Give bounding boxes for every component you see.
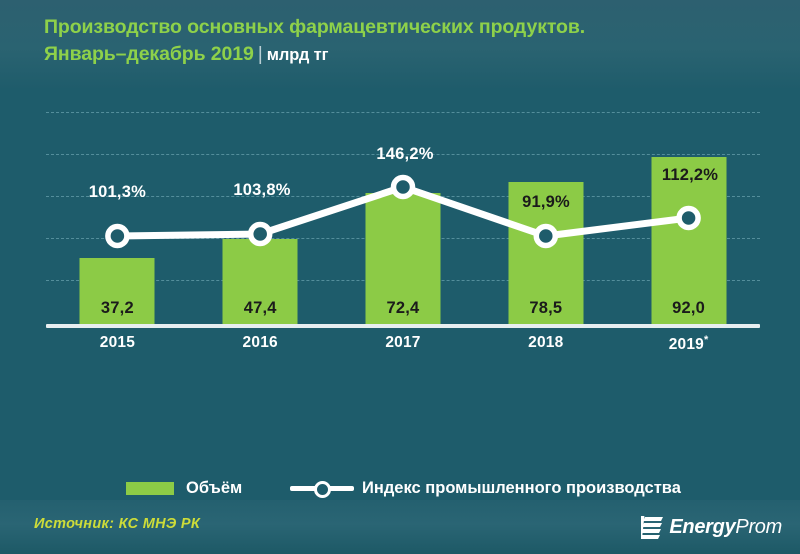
logo-text-prom: Prom	[735, 516, 782, 538]
x-axis-line	[46, 324, 760, 328]
title-separator: |	[254, 43, 267, 65]
title-main-text: Производство основных фармацевтических п…	[44, 16, 585, 38]
logo-text-energy: Energy	[669, 516, 735, 538]
source-text: Источник: КС МНЭ РК	[34, 516, 200, 532]
bar-2015[interactable]: 37,2	[80, 258, 155, 326]
bar-value-2018: 78,5	[508, 299, 583, 318]
bar-2017[interactable]: 72,4	[365, 193, 440, 326]
legend-swatch-icon	[126, 482, 174, 495]
bar-series-group: 37,2 47,4 72,4 78,5 92,0	[46, 88, 760, 326]
header-banner: Производство основных фармацевтических п…	[0, 0, 800, 88]
index-label-2019: 112,2%	[662, 166, 718, 185]
legend-label-index: Индекс промышленного производства	[362, 479, 681, 498]
legend-line-marker-icon	[290, 479, 354, 497]
plot-area: 37,2 47,4 72,4 78,5 92,0	[0, 88, 800, 500]
energyprom-logo-icon	[641, 515, 663, 539]
x-label-2018: 2018	[474, 334, 617, 352]
index-label-2017: 146,2%	[376, 145, 433, 164]
x-label-2017: 2017	[332, 334, 475, 352]
x-axis-labels: 2015 2016 2017 2018 2019*	[46, 334, 760, 360]
title-line-1: Производство основных фармацевтических п…	[44, 14, 780, 41]
energyprom-logo-text: EnergyProm	[669, 516, 782, 539]
legend-label-volume: Объём	[186, 479, 242, 498]
energyprom-logo[interactable]: EnergyProm	[641, 512, 782, 542]
index-label-2015: 101,3%	[89, 183, 146, 202]
bar-2016[interactable]: 47,4	[223, 239, 298, 326]
chart-infographic: Производство основных фармацевтических п…	[0, 0, 800, 554]
bar-slot-2017: 72,4	[332, 88, 475, 326]
bar-value-2015: 37,2	[80, 299, 155, 318]
x-label-2019: 2019*	[617, 334, 760, 354]
x-label-2015: 2015	[46, 334, 189, 352]
chart-legend: Объём Индекс промышленного производства	[0, 473, 800, 503]
footer-banner: Источник: КС МНЭ РК EnergyProm	[0, 500, 800, 554]
title-period: Январь–декабрь 2019	[44, 43, 254, 65]
x-label-2019-text: 2019	[669, 336, 704, 353]
index-label-2016: 103,8%	[233, 181, 290, 200]
legend-item-index[interactable]: Индекс промышленного производства	[290, 473, 681, 503]
title-unit: млрд тг	[267, 46, 329, 64]
bar-slot-2016: 47,4	[189, 88, 332, 326]
title-line-2: Январь–декабрь 2019|млрд тг	[44, 41, 780, 69]
x-label-2019-star: *	[704, 334, 708, 346]
legend-item-volume[interactable]: Объём	[126, 473, 242, 503]
header-title-block: Производство основных фармацевтических п…	[44, 14, 780, 69]
x-label-2016: 2016	[189, 334, 332, 352]
bar-value-2017: 72,4	[365, 299, 440, 318]
bar-value-2016: 47,4	[223, 299, 298, 318]
bar-slot-2019: 92,0	[617, 88, 760, 326]
bar-value-2019: 92,0	[651, 299, 726, 318]
bar-slot-2015: 37,2	[46, 88, 189, 326]
index-label-2018: 91,9%	[522, 193, 570, 212]
